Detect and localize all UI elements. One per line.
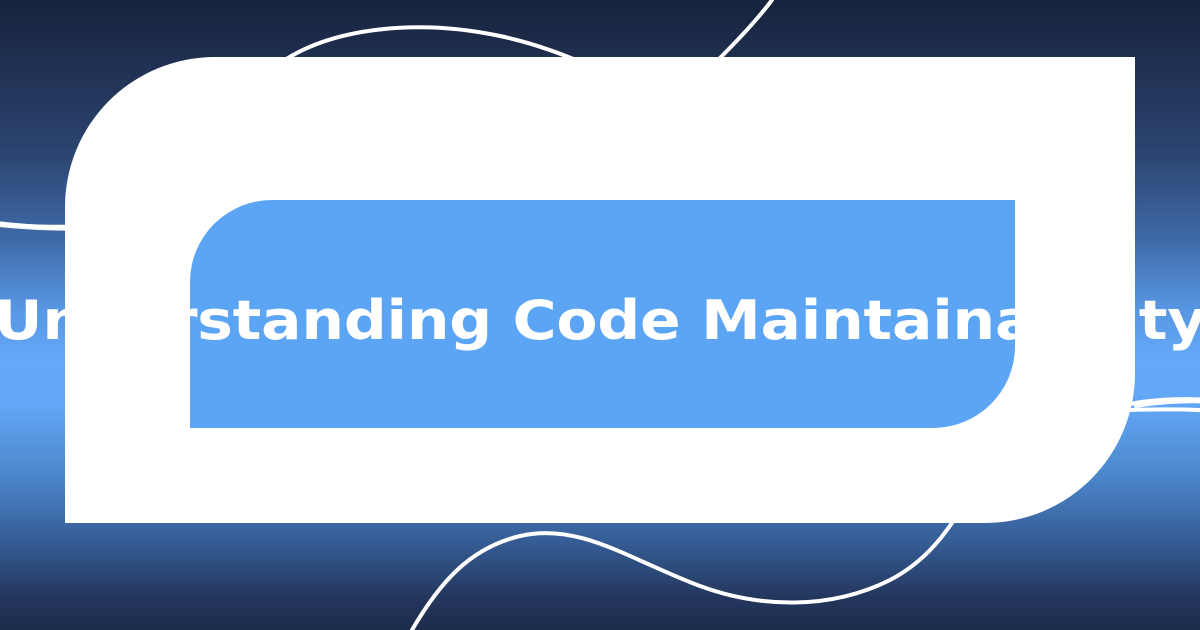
right-edge-curve xyxy=(1130,399,1200,404)
top-right-diagonal-curve xyxy=(720,0,772,58)
right-edge-curve-front xyxy=(1136,401,1200,406)
page-title: Understanding Code Maintainability xyxy=(0,294,1200,348)
title-clip-container: Understanding Code Maintainability xyxy=(0,278,1200,364)
og-image-card: Understanding Code Maintainability xyxy=(0,0,1200,630)
